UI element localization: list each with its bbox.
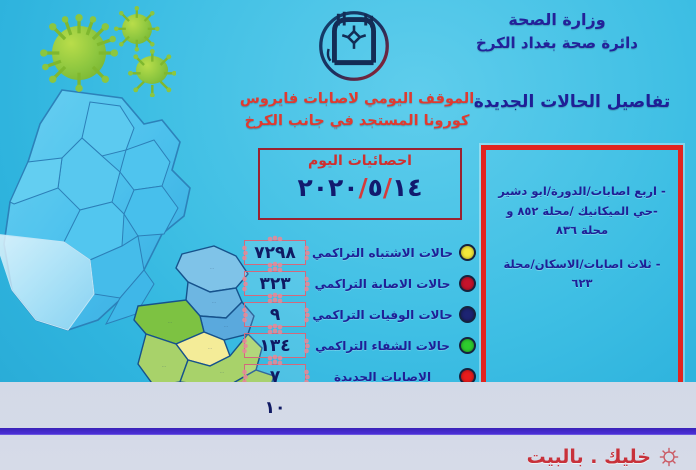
statistics-value: ٣٢٣ xyxy=(259,274,290,294)
footer-divider xyxy=(0,428,696,434)
svg-text:···: ··· xyxy=(210,267,214,272)
coronavirus-icon xyxy=(658,446,680,468)
date-separator-1: / xyxy=(358,173,367,202)
statistics-label: حالات الشفاء التراكمي xyxy=(312,339,453,353)
statistics-label: حالات الوفيات التراكمي xyxy=(312,308,453,322)
statistics-label: حالات الاصابة التراكمي xyxy=(312,277,453,291)
infections-cumulative-dot xyxy=(459,275,476,292)
ministry-name: وزارة الصحة xyxy=(432,8,682,32)
report-date: ٢٠٢٠/٥/١٤ xyxy=(260,173,460,202)
statistics-value: ٧٢٩٨ xyxy=(254,243,296,263)
svg-text:···: ··· xyxy=(162,365,166,370)
statistics-row: حالات الاشتباه التراكمي ٧٢٩٨ xyxy=(244,238,476,267)
statistics-value-box: ٣٢٣ xyxy=(244,271,306,296)
date-separator-2: / xyxy=(383,173,392,202)
statistics-value-box: ٧٢٩٨ xyxy=(244,240,306,265)
svg-text:···: ··· xyxy=(168,321,172,326)
recoveries-cumulative-dot xyxy=(459,337,476,354)
statistics-row: حالات الاصابة التراكمي ٣٢٣ xyxy=(244,269,476,298)
details-line-1: - اربع اصابات/الدورة/ابو دشير -حي الميكا… xyxy=(492,182,672,241)
directorate-name: دائرة صحة بغداد الكرخ xyxy=(432,32,682,55)
svg-text:···: ··· xyxy=(220,371,224,376)
page-title: الموقف اليومي لاصابات فايروس كورونا المس… xyxy=(238,88,476,133)
statistics-value-box: ٩ xyxy=(244,302,306,327)
footer-slogan: خليك . بالبيت xyxy=(527,446,680,468)
svg-text:···: ··· xyxy=(208,347,212,352)
footer-slogan-text: خليك . بالبيت xyxy=(527,446,651,468)
statistics-label: حالات الاشتباه التراكمي xyxy=(312,246,453,260)
date-year: ٢٠٢٠ xyxy=(297,173,358,202)
statistics-value: ٧ xyxy=(270,367,280,387)
suspected-cumulative-dot xyxy=(459,244,476,261)
virus-particle-large xyxy=(52,26,106,80)
statistics-row: حالات الشفاء التراكمي ١٣٤ xyxy=(244,331,476,360)
today-statistics-box: احصائيات اليوم ٢٠٢٠/٥/١٤ xyxy=(258,148,462,220)
deaths-cumulative-dot xyxy=(459,306,476,323)
today-statistics-caption: احصائيات اليوم xyxy=(260,153,460,169)
statistics-value-box: ١٣٤ xyxy=(244,333,306,358)
statistics-value: ٩ xyxy=(270,305,280,325)
statistics-row: حالات الوفيات التراكمي ٩ xyxy=(244,300,476,329)
virus-particle-small-top xyxy=(122,14,152,44)
virus-particle-small-right xyxy=(136,56,168,84)
svg-text:···: ··· xyxy=(224,325,228,330)
svg-text:···: ··· xyxy=(212,301,216,306)
ministry-header: وزارة الصحة دائرة صحة بغداد الكرخ xyxy=(432,8,682,55)
date-day: ١٤ xyxy=(392,173,423,202)
statistics-value: ١٠ xyxy=(265,398,286,418)
date-month: ٥ xyxy=(368,173,383,202)
statistics-value: ١٣٤ xyxy=(259,336,290,356)
poster-canvas: ········· ········· ······ xyxy=(0,0,696,470)
details-heading: تفاصيل الحالات الجديدة xyxy=(466,92,678,112)
karkh-health-directorate-logo xyxy=(305,2,403,90)
details-line-2: - ثلاث اصابات/الاسكان/محلة ٦٢٣ xyxy=(492,255,672,294)
